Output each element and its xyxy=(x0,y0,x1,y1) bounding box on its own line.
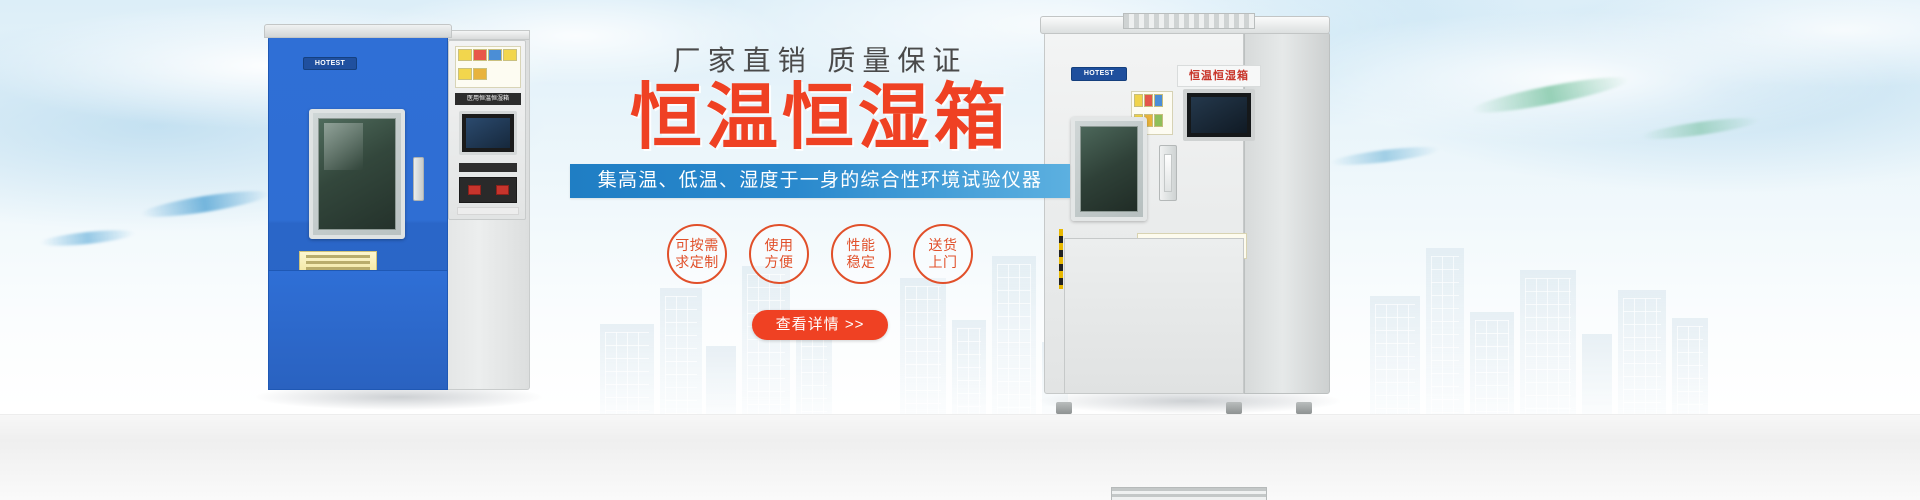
control-panel-display xyxy=(459,111,517,155)
chamber-air-grille xyxy=(1111,487,1267,500)
promo-banner: HOTEST 医用恒温恒湿箱 xyxy=(0,0,1920,500)
view-details-button[interactable]: 查看详情 >> xyxy=(752,310,888,340)
promo-text-block: 厂家直销 质量保证 恒温恒湿箱 集高温、低温、湿度于一身的综合性环境试验仪器 可… xyxy=(570,46,1070,340)
product-name-plate: 恒温恒湿箱 xyxy=(1177,65,1261,87)
display-screen-surface xyxy=(1191,97,1247,133)
product-image-right-chamber: HOTEST 恒温恒湿箱 xyxy=(1030,6,1330,406)
brand-logo: HOTEST xyxy=(303,57,357,70)
page-title: 恒温恒湿箱 xyxy=(570,81,1070,157)
feature-badge-custom: 可按需 求定制 xyxy=(667,224,727,284)
badge-line-2: 上门 xyxy=(929,254,958,271)
promo-eyebrow-text: 厂家直销 质量保证 xyxy=(570,46,1070,77)
badge-line-2: 求定制 xyxy=(675,254,719,271)
badge-line-2: 方便 xyxy=(765,254,794,271)
control-panel-body: 医用恒温恒湿箱 xyxy=(448,40,526,220)
feature-badge-easy-use: 使用 方便 xyxy=(749,224,809,284)
warning-label-icon xyxy=(455,46,521,88)
chamber-door-handle xyxy=(413,157,424,201)
control-panel-left: 医用恒温恒湿箱 xyxy=(448,40,526,220)
control-panel-buttons xyxy=(459,177,517,203)
chamber-base xyxy=(268,270,448,390)
badge-line-2: 稳定 xyxy=(847,254,876,271)
promo-subtitle-bar: 集高温、低温、湿度于一身的综合性环境试验仪器 xyxy=(570,164,1070,198)
chamber-glass xyxy=(318,118,396,230)
chamber-top-vent xyxy=(1123,13,1255,29)
chamber-top-cap xyxy=(1040,16,1330,34)
feature-badge-stable: 性能 稳定 xyxy=(831,224,891,284)
chamber-base xyxy=(1064,238,1244,394)
feature-badge-delivery: 送货 上门 xyxy=(913,224,973,284)
badge-line-1: 使用 xyxy=(765,237,794,254)
chamber-leg xyxy=(1296,402,1312,414)
chamber-leg xyxy=(1226,402,1242,414)
control-panel-strip xyxy=(459,163,517,172)
badge-line-1: 送货 xyxy=(929,237,958,254)
chamber-leg xyxy=(1056,402,1072,414)
control-panel-footer-label xyxy=(457,207,519,215)
chamber-spec-plate xyxy=(299,251,377,271)
chamber-viewing-window xyxy=(1071,117,1147,221)
feature-badge-list: 可按需 求定制 使用 方便 性能 稳定 送货 上门 xyxy=(570,224,1070,284)
chamber-door-handle xyxy=(1159,145,1177,201)
chamber-top-cap xyxy=(264,24,452,38)
badge-line-1: 可按需 xyxy=(675,237,719,254)
badge-line-1: 性能 xyxy=(847,237,876,254)
control-panel-display xyxy=(1183,89,1255,141)
chamber-viewing-window xyxy=(309,109,405,239)
brand-logo: HOTEST xyxy=(1071,67,1127,81)
ground-strip xyxy=(0,414,1920,500)
glass-glare xyxy=(324,123,364,169)
display-screen-surface xyxy=(466,118,510,148)
control-panel-title: 医用恒温恒湿箱 xyxy=(455,93,521,105)
chamber-side-top xyxy=(446,30,530,40)
chamber-glass xyxy=(1080,126,1138,212)
